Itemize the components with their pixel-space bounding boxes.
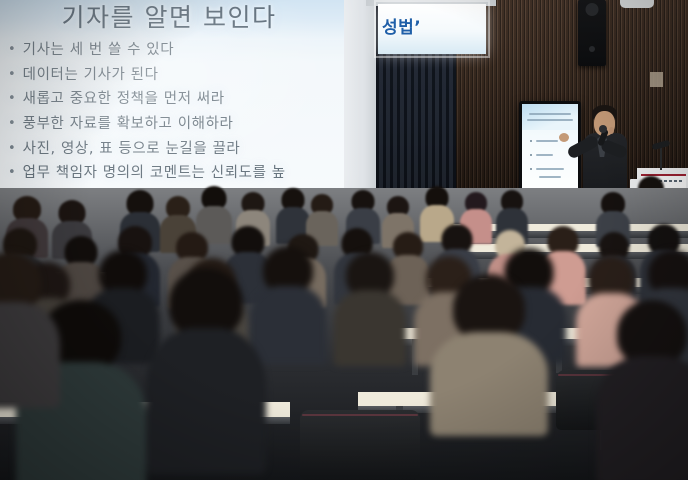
audience-member <box>596 300 688 480</box>
audience-member <box>430 274 548 424</box>
audience-row-foreground <box>0 0 688 480</box>
audience-member <box>146 268 266 464</box>
audience-member <box>0 252 60 402</box>
lecture-hall-photo: 기자를 알면 보인다 • 기사는 세 번 쓸 수 있다 • 데이터는 기사가 된… <box>0 0 688 480</box>
